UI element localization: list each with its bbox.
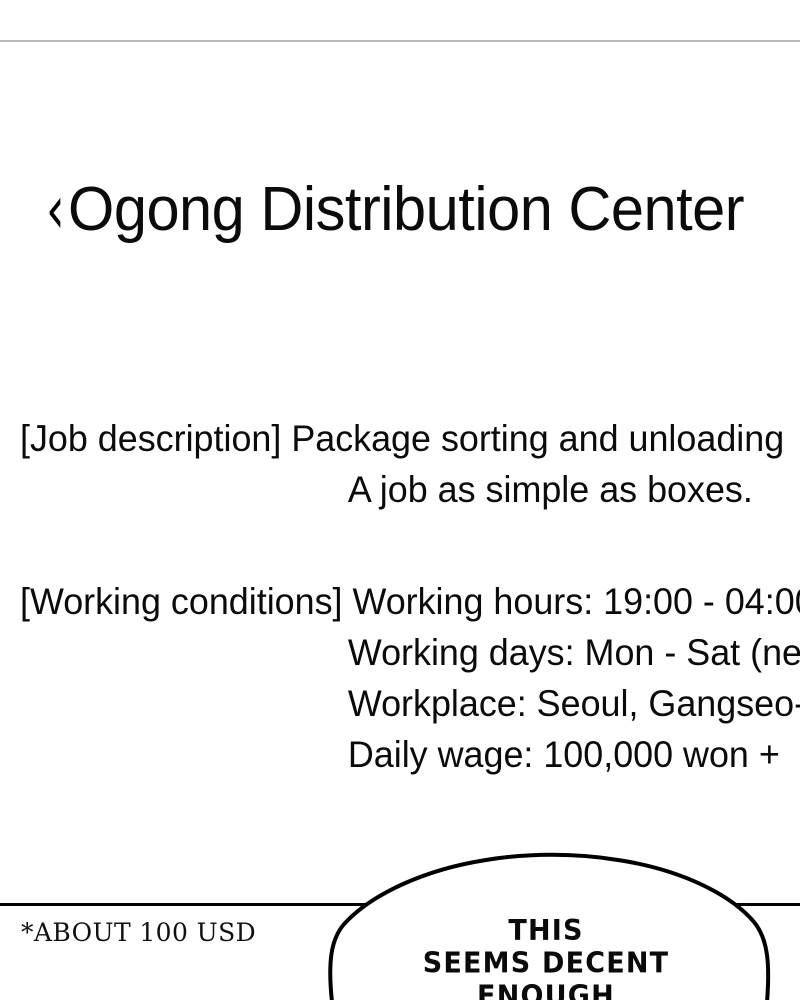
working-conditions-line-1: [Working conditions] Working hours: 19:0… xyxy=(20,576,800,627)
job-description-line-1: [Job description] Package sorting and un… xyxy=(20,413,800,464)
page-header: ‹ Ogong Distribution Center xyxy=(0,160,800,260)
chevron-left-icon[interactable]: ‹ xyxy=(46,176,65,243)
working-conditions-line-3: Workplace: Seoul, Gangseo-gu xyxy=(20,678,800,729)
job-description-line-2: A job as simple as boxes. xyxy=(20,464,800,515)
footnote-text: *ABOUT 100 USD xyxy=(21,918,256,948)
job-description-block: [Job description] Package sorting and un… xyxy=(20,413,800,515)
comic-panel: ‹ Ogong Distribution Center [Job descrip… xyxy=(0,0,800,1000)
working-conditions-line-2: Working days: Mon - Sat (negotiable) xyxy=(20,627,800,678)
working-conditions-line-4: Daily wage: 100,000 won + xyxy=(20,729,800,780)
working-conditions-block: [Working conditions] Working hours: 19:0… xyxy=(20,576,800,780)
page-title: Ogong Distribution Center xyxy=(68,179,744,241)
speech-bubble-text: THIS SEEMS DECENT ENOUGH xyxy=(318,915,774,1000)
top-divider xyxy=(0,40,800,42)
